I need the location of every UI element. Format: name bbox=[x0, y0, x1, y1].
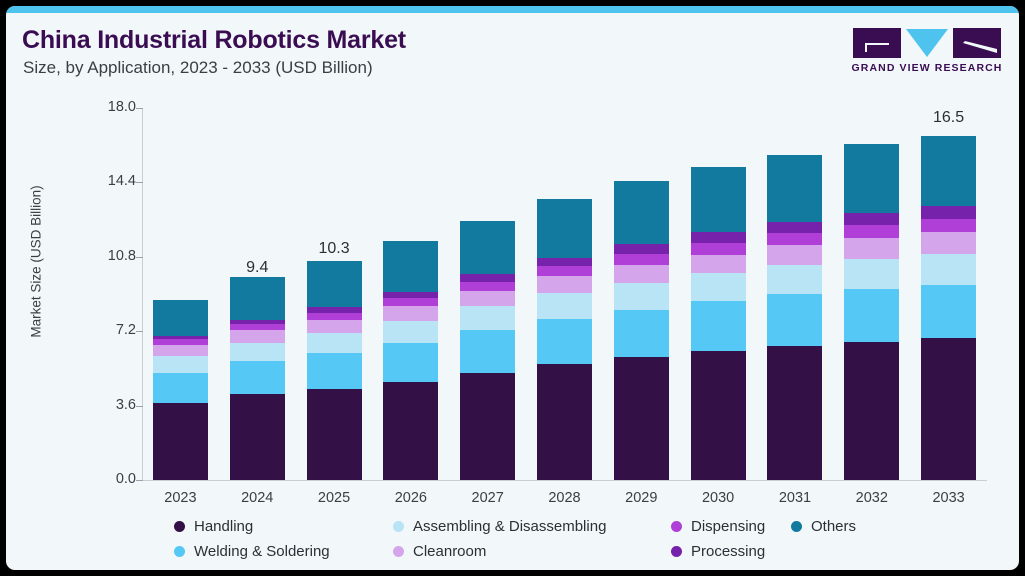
bar-segment[interactable] bbox=[153, 339, 208, 344]
chart-plot-area: Market Size (USD Billion) 0.03.67.210.81… bbox=[6, 94, 1019, 494]
bar-segment[interactable] bbox=[921, 285, 976, 339]
x-tick-label: 2027 bbox=[445, 490, 530, 506]
bar-segment[interactable] bbox=[767, 233, 822, 245]
bar-segment[interactable] bbox=[230, 277, 285, 319]
bar-segment[interactable] bbox=[844, 238, 899, 259]
bar-segment[interactable] bbox=[844, 342, 899, 480]
bar-value-label: 16.5 bbox=[909, 109, 988, 127]
x-tick-label: 2030 bbox=[676, 490, 761, 506]
x-tick-label: 2031 bbox=[752, 490, 837, 506]
gvr-mark-icon bbox=[851, 26, 1003, 60]
bar-stack[interactable] bbox=[614, 186, 669, 481]
page-subtitle: Size, by Application, 2023 - 2033 (USD B… bbox=[23, 58, 373, 78]
bar-value-label: 10.3 bbox=[295, 240, 374, 258]
bar-segment[interactable] bbox=[230, 330, 285, 342]
bar-segment[interactable] bbox=[844, 225, 899, 238]
bar-segment[interactable] bbox=[460, 221, 515, 275]
bar-stack[interactable] bbox=[767, 155, 822, 481]
y-tick-mark bbox=[136, 257, 143, 258]
bar-segment[interactable] bbox=[614, 254, 669, 265]
bar-segment[interactable] bbox=[153, 345, 208, 356]
x-tick-label: 2026 bbox=[368, 490, 453, 506]
bar-segment[interactable] bbox=[767, 155, 822, 222]
bar-segment[interactable] bbox=[691, 167, 746, 232]
x-tick-label: 2032 bbox=[829, 490, 914, 506]
bar-segment[interactable] bbox=[921, 254, 976, 285]
bar-segment[interactable] bbox=[614, 357, 669, 480]
legend-swatch-icon bbox=[671, 546, 682, 557]
x-tick-label: 2033 bbox=[906, 490, 991, 506]
x-axis-line bbox=[142, 480, 987, 481]
bar-segment[interactable] bbox=[614, 283, 669, 310]
x-tick-label: 2024 bbox=[215, 490, 300, 506]
x-tick-label: 2029 bbox=[599, 490, 684, 506]
bar-segment[interactable] bbox=[460, 274, 515, 281]
bar-segment[interactable] bbox=[153, 403, 208, 481]
legend-swatch-icon bbox=[671, 521, 682, 532]
bar-segment[interactable] bbox=[383, 292, 438, 298]
bar-segment[interactable] bbox=[537, 319, 592, 364]
bar-segment[interactable] bbox=[844, 213, 899, 225]
bar-segment[interactable] bbox=[921, 206, 976, 218]
bar-segment[interactable] bbox=[767, 222, 822, 233]
bar-segment[interactable] bbox=[537, 199, 592, 258]
bar-stack[interactable] bbox=[844, 144, 899, 480]
bar-segment[interactable] bbox=[691, 232, 746, 242]
bar-segment[interactable] bbox=[307, 333, 362, 353]
y-tick-mark bbox=[136, 182, 143, 183]
y-tick-mark bbox=[136, 480, 143, 481]
legend-item[interactable]: Cleanroom bbox=[393, 543, 486, 560]
bar-stack[interactable] bbox=[537, 199, 592, 480]
bar-segment[interactable] bbox=[537, 276, 592, 293]
bar-stack[interactable] bbox=[230, 286, 285, 480]
bar-segment[interactable] bbox=[921, 136, 976, 206]
y-tick-mark bbox=[136, 108, 143, 109]
bar-segment[interactable] bbox=[307, 307, 362, 312]
bar-segment[interactable] bbox=[153, 356, 208, 373]
bar-segment[interactable] bbox=[844, 259, 899, 289]
legend-item[interactable]: Processing bbox=[671, 543, 765, 560]
bar-segment[interactable] bbox=[691, 351, 746, 480]
legend-label: Dispensing bbox=[691, 518, 765, 535]
bar-segment[interactable] bbox=[691, 243, 746, 255]
bar-segment[interactable] bbox=[230, 320, 285, 324]
y-axis-label: Market Size (USD Billion) bbox=[29, 142, 44, 382]
bar-segment[interactable] bbox=[844, 144, 899, 213]
legend-swatch-icon bbox=[174, 546, 185, 557]
bar-segment[interactable] bbox=[460, 306, 515, 330]
bar-segment[interactable] bbox=[614, 244, 669, 253]
bar-segment[interactable] bbox=[307, 353, 362, 389]
bar-stack[interactable] bbox=[383, 241, 438, 480]
bar-segment[interactable] bbox=[383, 298, 438, 306]
y-tick-label: 18.0 bbox=[76, 99, 136, 115]
y-tick-label: 10.8 bbox=[76, 248, 136, 264]
legend-swatch-icon bbox=[393, 521, 404, 532]
legend-item[interactable]: Handling bbox=[174, 518, 253, 535]
bar-segment[interactable] bbox=[921, 219, 976, 232]
bar-segment[interactable] bbox=[153, 336, 208, 339]
bar-segment[interactable] bbox=[460, 330, 515, 372]
page-title: China Industrial Robotics Market bbox=[22, 26, 406, 55]
legend-label: Assembling & Disassembling bbox=[413, 518, 606, 535]
chart-legend: HandlingAssembling & DisassemblingDispen… bbox=[174, 518, 1004, 570]
bar-segment[interactable] bbox=[383, 382, 438, 480]
bar-stack[interactable] bbox=[460, 221, 515, 480]
bar-segment[interactable] bbox=[383, 306, 438, 320]
bar-segment[interactable] bbox=[691, 273, 746, 301]
bar-segment[interactable] bbox=[614, 265, 669, 283]
bar-stack[interactable] bbox=[307, 267, 362, 480]
logo-text: GRAND VIEW RESEARCH bbox=[851, 62, 1003, 74]
chart-card: China Industrial Robotics Market Size, b… bbox=[6, 6, 1019, 570]
bar-stack[interactable] bbox=[921, 136, 976, 480]
bar-segment[interactable] bbox=[307, 320, 362, 333]
bar-segment[interactable] bbox=[230, 394, 285, 480]
bar-segment[interactable] bbox=[383, 241, 438, 292]
bar-value-label: 9.4 bbox=[218, 259, 297, 277]
y-tick-mark bbox=[136, 406, 143, 407]
y-tick-label: 14.4 bbox=[76, 173, 136, 189]
bars-container bbox=[142, 108, 987, 480]
bar-segment[interactable] bbox=[460, 291, 515, 307]
accent-top-bar bbox=[6, 6, 1019, 13]
bar-segment[interactable] bbox=[614, 310, 669, 358]
bar-segment[interactable] bbox=[537, 266, 592, 276]
bar-segment[interactable] bbox=[153, 300, 208, 336]
legend-item[interactable]: Dispensing bbox=[671, 518, 765, 535]
bar-segment[interactable] bbox=[307, 261, 362, 308]
y-tick-mark bbox=[136, 331, 143, 332]
legend-label: Cleanroom bbox=[413, 543, 486, 560]
bar-segment[interactable] bbox=[921, 338, 976, 480]
legend-label: Handling bbox=[194, 518, 253, 535]
bar-segment[interactable] bbox=[614, 181, 669, 244]
bar-segment[interactable] bbox=[230, 361, 285, 394]
x-tick-label: 2025 bbox=[292, 490, 377, 506]
grand-view-research-logo: GRAND VIEW RESEARCH bbox=[851, 26, 1003, 78]
bar-segment[interactable] bbox=[921, 232, 976, 254]
x-tick-label: 2028 bbox=[522, 490, 607, 506]
y-axis-ticks: 0.03.67.210.814.418.0 bbox=[68, 94, 136, 494]
bar-segment[interactable] bbox=[460, 373, 515, 480]
legend-swatch-icon bbox=[791, 521, 802, 532]
bar-segment[interactable] bbox=[537, 258, 592, 266]
legend-item[interactable]: Welding & Soldering bbox=[174, 543, 330, 560]
bar-segment[interactable] bbox=[844, 289, 899, 342]
legend-label: Others bbox=[811, 518, 856, 535]
y-tick-label: 7.2 bbox=[76, 322, 136, 338]
bar-segment[interactable] bbox=[767, 346, 822, 480]
bar-segment[interactable] bbox=[153, 373, 208, 403]
bar-segment[interactable] bbox=[307, 313, 362, 320]
legend-item[interactable]: Others bbox=[791, 518, 856, 535]
legend-label: Processing bbox=[691, 543, 765, 560]
bar-segment[interactable] bbox=[230, 343, 285, 362]
legend-item[interactable]: Assembling & Disassembling bbox=[393, 518, 606, 535]
x-tick-label: 2023 bbox=[138, 490, 223, 506]
bar-segment[interactable] bbox=[537, 364, 592, 480]
bar-segment[interactable] bbox=[537, 293, 592, 319]
legend-swatch-icon bbox=[393, 546, 404, 557]
bar-segment[interactable] bbox=[230, 324, 285, 330]
bar-segment[interactable] bbox=[767, 245, 822, 265]
bar-stack[interactable] bbox=[691, 167, 746, 480]
bar-segment[interactable] bbox=[691, 301, 746, 351]
bar-segment[interactable] bbox=[383, 343, 438, 382]
bar-segment[interactable] bbox=[307, 389, 362, 480]
bar-segment[interactable] bbox=[767, 265, 822, 294]
bar-segment[interactable] bbox=[691, 255, 746, 274]
bar-segment[interactable] bbox=[460, 282, 515, 291]
bar-segment[interactable] bbox=[767, 294, 822, 346]
bar-segment[interactable] bbox=[383, 321, 438, 343]
y-tick-label: 3.6 bbox=[76, 397, 136, 413]
legend-label: Welding & Soldering bbox=[194, 543, 330, 560]
bar-stack[interactable] bbox=[153, 300, 208, 480]
y-tick-label: 0.0 bbox=[76, 471, 136, 487]
legend-swatch-icon bbox=[174, 521, 185, 532]
